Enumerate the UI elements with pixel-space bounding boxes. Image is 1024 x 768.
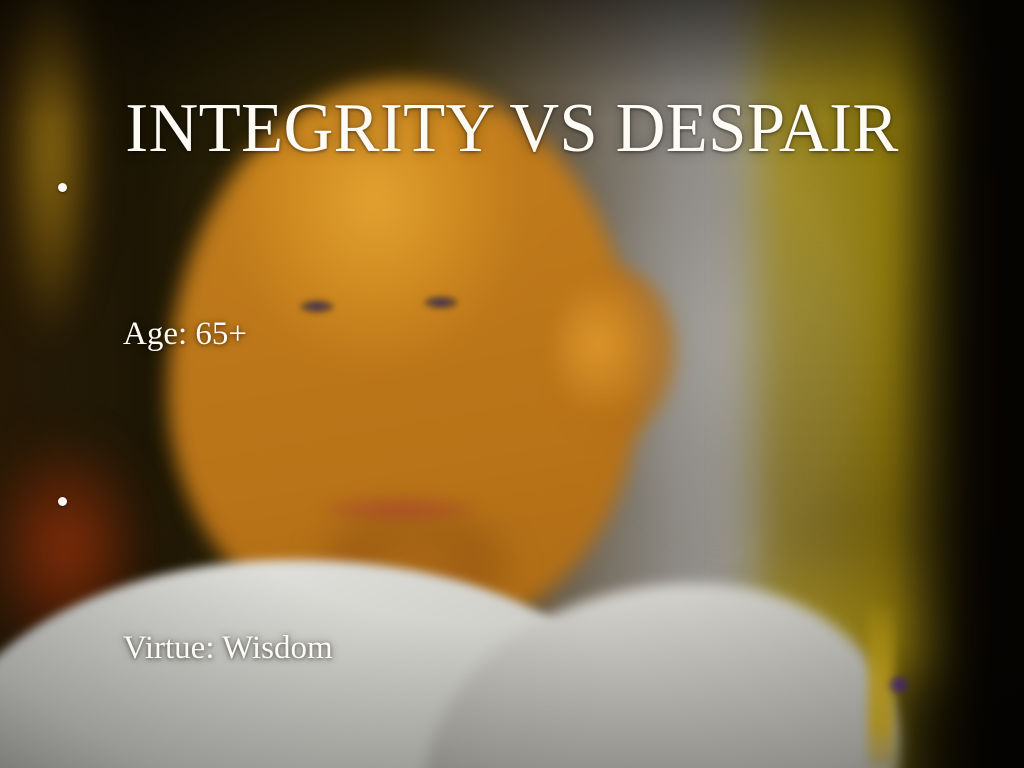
bullet-dot-icon (58, 497, 67, 506)
bullet-list: Age: 65+ Virtue: Wisdom Our productivity… (48, 163, 948, 768)
bullet-text: Age: 65+ (123, 310, 948, 359)
slide-title: INTEGRITY VS DESPAIR (8, 94, 1017, 164)
bullet-dot-icon (58, 183, 67, 192)
presentation-slide: INTEGRITY VS DESPAIR Age: 65+ Virtue: Wi… (0, 0, 1024, 768)
bullet-text: Virtue: Wisdom (123, 624, 948, 673)
slide-content: INTEGRITY VS DESPAIR Age: 65+ Virtue: Wi… (0, 0, 1024, 768)
bullet-item-virtue: Virtue: Wisdom (48, 477, 948, 768)
bullet-item-age: Age: 65+ (48, 163, 948, 457)
